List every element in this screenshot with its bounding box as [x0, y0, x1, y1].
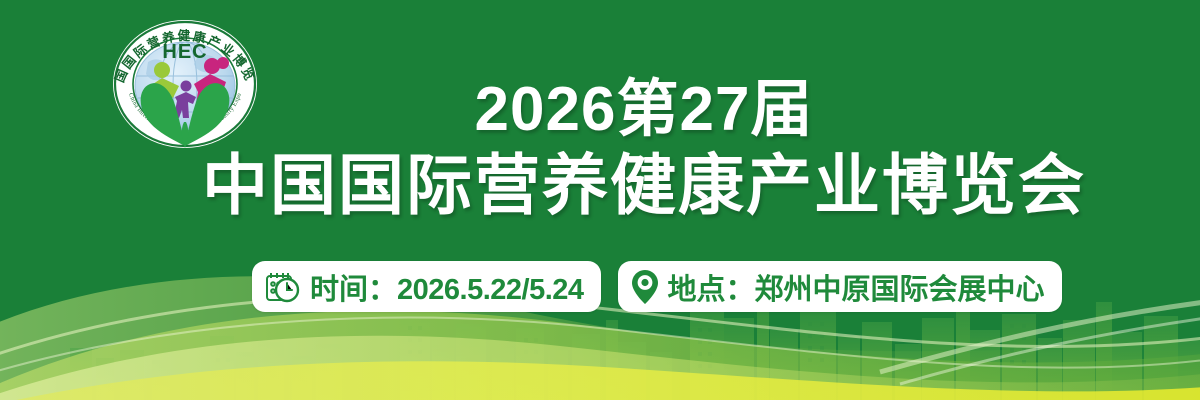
event-venue-pill: 地点：郑州中原国际会展中心: [618, 261, 1062, 312]
event-venue-label: 地点：: [668, 274, 755, 306]
page-title-line1: 2026第27届: [0, 76, 1200, 144]
page-title-line2: 中国国际营养健康产业博览会: [0, 148, 1200, 222]
event-banner: 中国国际营养健康产业博览会 China International Health…: [0, 0, 1200, 400]
logo-acronym: HEC: [162, 41, 207, 63]
event-info-row: 时间：2026.5.22/5.24 地点：郑州中原国际会展中心: [252, 261, 1062, 312]
event-venue-value: 郑州中原国际会展中心: [755, 274, 1045, 306]
event-venue-text: 地点：郑州中原国际会展中心: [668, 266, 1045, 308]
event-date-text: 时间：2026.5.22/5.24: [310, 266, 584, 308]
calendar-clock-icon: [264, 270, 302, 304]
event-date-value: 2026.5.22/5.24: [397, 274, 584, 306]
event-date-pill: 时间：2026.5.22/5.24: [252, 261, 601, 312]
map-pin-icon: [630, 269, 660, 305]
event-date-label: 时间：: [310, 274, 397, 306]
